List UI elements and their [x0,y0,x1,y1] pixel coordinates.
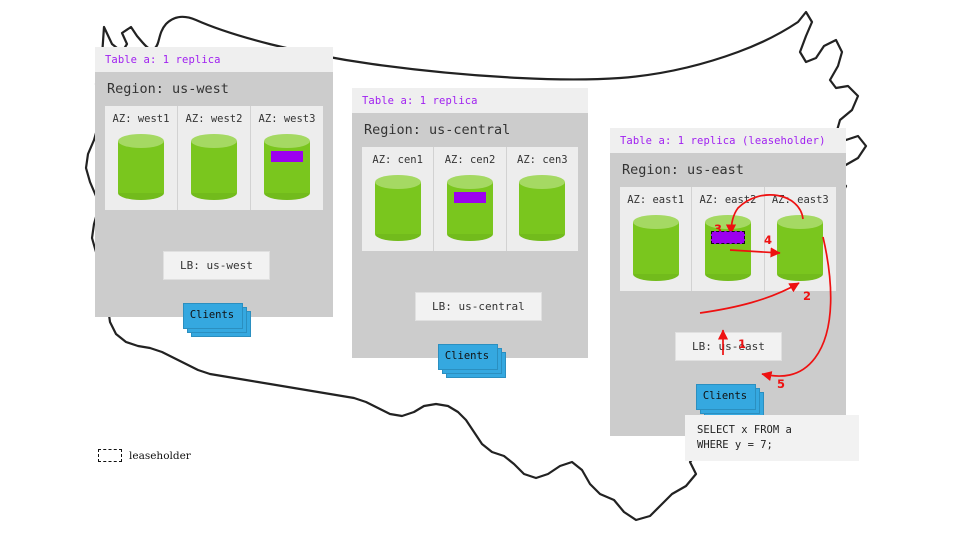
az-label-cen3: AZ: cen3 [517,154,568,166]
cylinder-top [633,215,679,229]
az-label-cen2: AZ: cen2 [445,154,496,166]
region-panel-us-central: Table a: 1 replica Region: us-central AZ… [352,88,588,358]
clients-label: Clients [438,344,496,368]
cylinder-side [375,182,421,234]
load-balancer-us-west[interactable]: LB: us-west [163,251,270,280]
panel-header-us-east: Table a: 1 replica (leaseholder) [610,128,846,153]
cylinder-top [519,175,565,189]
region-title-us-west: Region: us-west [95,72,333,106]
node-cylinder-west1[interactable] [118,134,164,200]
cylinder-top [705,215,751,229]
cylinder-side [118,141,164,193]
az-label-east3: AZ: east3 [772,194,829,206]
node-cylinder-cen1[interactable] [375,175,421,241]
az-label-east2: AZ: east2 [700,194,757,206]
az-row-us-central: AZ: cen1 AZ: cen2 [362,147,578,251]
clients-us-central[interactable]: Clients [438,344,496,368]
cylinder-top [191,134,237,148]
cylinder-side [191,141,237,193]
cylinder-top [375,175,421,189]
az-cell-east2[interactable]: AZ: east2 [692,187,764,291]
clients-label: Clients [183,303,241,327]
az-label-cen1: AZ: cen1 [372,154,423,166]
diagram-canvas: Table a: 1 replica Region: us-west AZ: w… [0,0,960,540]
az-row-us-east: AZ: east1 AZ: east2 [620,187,836,291]
region-panel-us-west: Table a: 1 replica Region: us-west AZ: w… [95,47,333,317]
node-cylinder-cen2[interactable] [447,175,493,241]
clients-label: Clients [696,384,754,408]
node-cylinder-cen3[interactable] [519,175,565,241]
panel-header-us-central: Table a: 1 replica [352,88,588,113]
cylinder-top [777,215,823,229]
az-label-west2: AZ: west2 [186,113,243,125]
legend-label: leaseholder [129,450,191,462]
load-balancer-us-central[interactable]: LB: us-central [415,292,542,321]
panel-body-us-west: Region: us-west AZ: west1 AZ: west2 [95,72,333,317]
panel-body-us-central: Region: us-central AZ: cen1 AZ: cen2 [352,113,588,358]
legend: leaseholder [98,449,191,462]
clients-us-west[interactable]: Clients [183,303,241,327]
clients-us-east[interactable]: Clients [696,384,754,408]
az-cell-cen1[interactable]: AZ: cen1 [362,147,434,251]
az-cell-east1[interactable]: AZ: east1 [620,187,692,291]
cylinder-top [118,134,164,148]
sql-query-box: SELECT x FROM a WHERE y = 7; [685,415,859,461]
panel-body-us-east: Region: us-east AZ: east1 AZ: east2 [610,153,846,436]
replica-marker-cen2 [454,192,486,203]
cylinder-top [447,175,493,189]
node-cylinder-east3[interactable] [777,215,823,281]
replica-marker-west3 [271,151,303,162]
az-cell-west1[interactable]: AZ: west1 [105,106,178,210]
node-cylinder-east2[interactable] [705,215,751,281]
cylinder-side [264,141,310,193]
az-row-us-west: AZ: west1 AZ: west2 AZ [105,106,323,210]
node-cylinder-east1[interactable] [633,215,679,281]
cylinder-side [777,222,823,274]
cylinder-side [705,222,751,274]
az-cell-west3[interactable]: AZ: west3 [251,106,323,210]
az-cell-east3[interactable]: AZ: east3 [765,187,836,291]
cylinder-side [633,222,679,274]
replica-marker-east2-leaseholder [711,231,745,244]
region-panel-us-east: Table a: 1 replica (leaseholder) Region:… [610,128,846,436]
az-label-west3: AZ: west3 [259,113,316,125]
leaseholder-swatch-icon [98,449,122,462]
node-cylinder-west2[interactable] [191,134,237,200]
az-label-west1: AZ: west1 [113,113,170,125]
cylinder-side [447,182,493,234]
az-label-east1: AZ: east1 [627,194,684,206]
az-cell-west2[interactable]: AZ: west2 [178,106,251,210]
az-cell-cen3[interactable]: AZ: cen3 [507,147,578,251]
node-cylinder-west3[interactable] [264,134,310,200]
load-balancer-us-east[interactable]: LB: us-east [675,332,782,361]
az-cell-cen2[interactable]: AZ: cen2 [434,147,506,251]
cylinder-top [264,134,310,148]
region-title-us-east: Region: us-east [610,153,846,187]
cylinder-side [519,182,565,234]
panel-header-us-west: Table a: 1 replica [95,47,333,72]
region-title-us-central: Region: us-central [352,113,588,147]
